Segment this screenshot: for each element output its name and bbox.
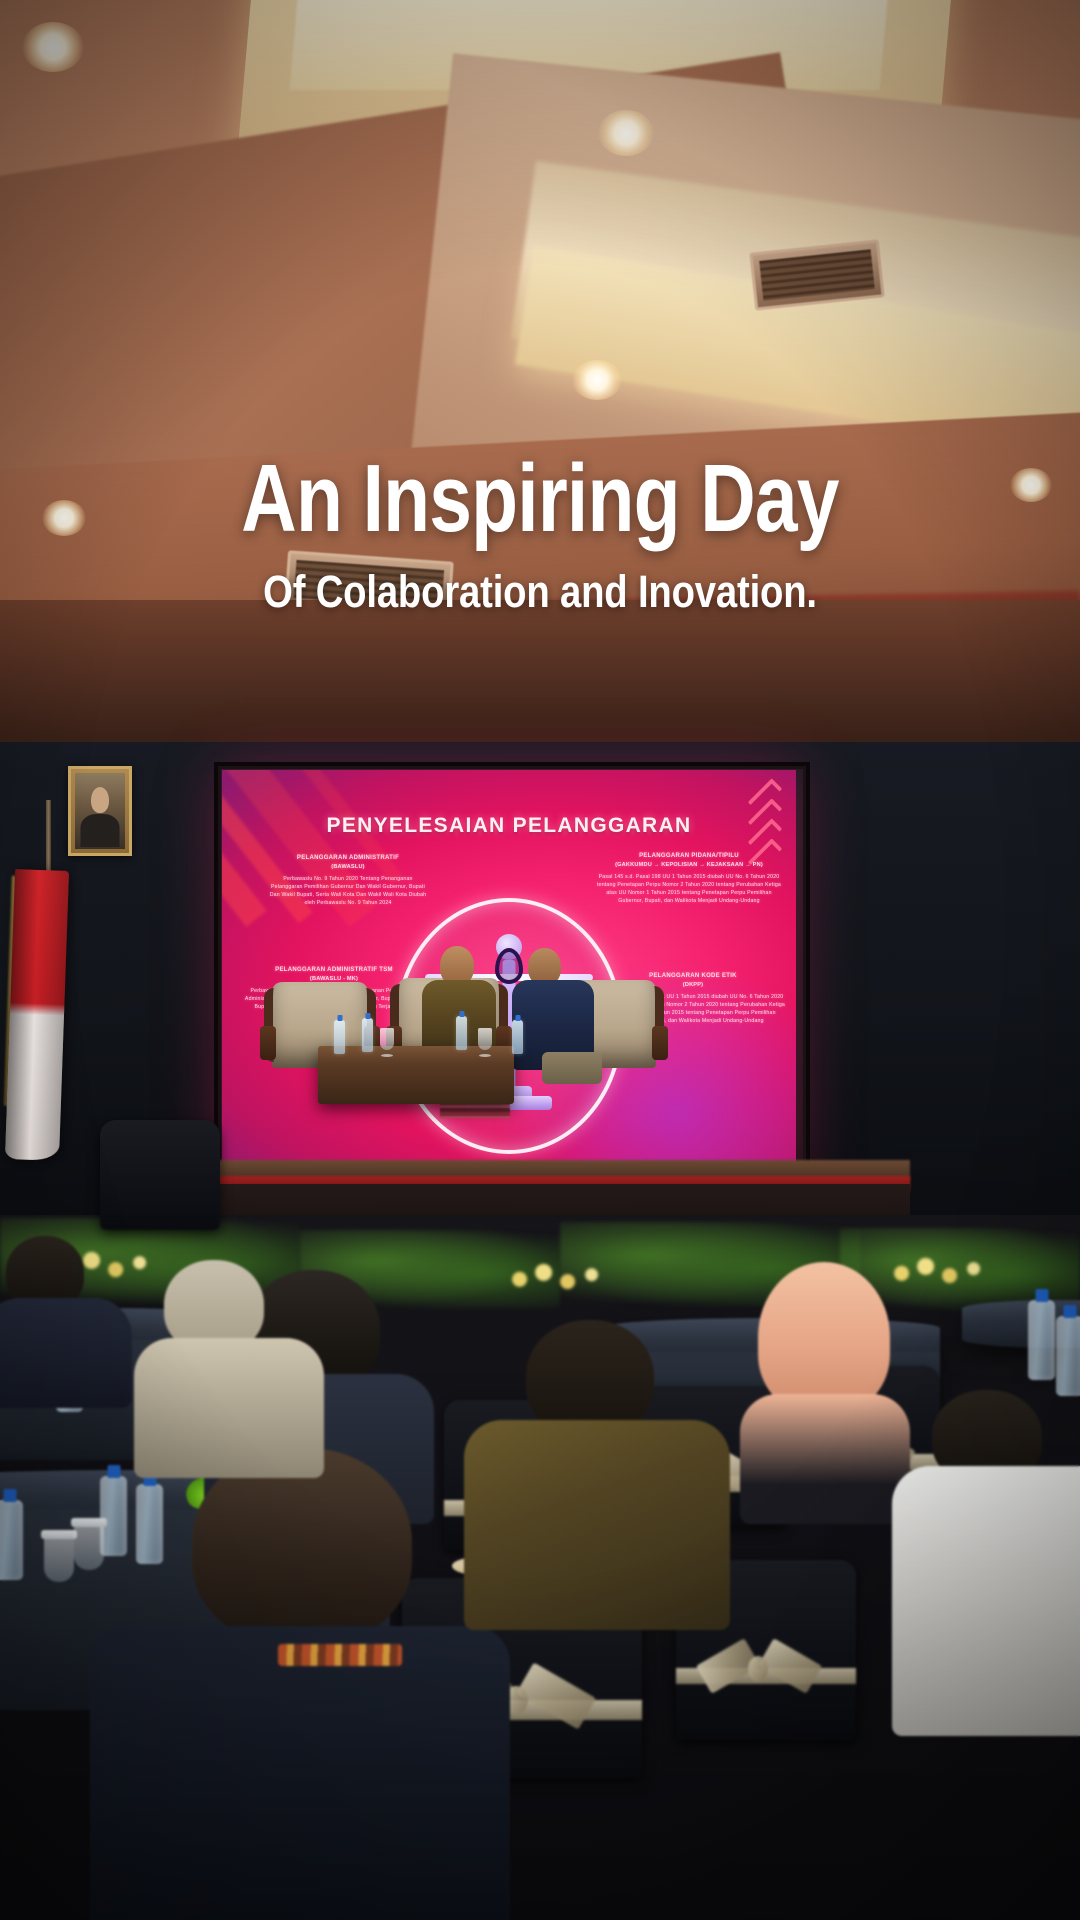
drinking-glass bbox=[44, 1536, 74, 1582]
water-bottle bbox=[100, 1476, 127, 1556]
drinking-glass bbox=[478, 1028, 492, 1050]
audience-member bbox=[136, 1448, 466, 1918]
audience-member bbox=[740, 1262, 900, 1482]
water-bottle bbox=[0, 1500, 23, 1580]
hijab bbox=[758, 1262, 890, 1412]
ceiling-downlight-icon bbox=[1010, 468, 1052, 502]
stage-speaker bbox=[516, 948, 592, 1070]
audience-member bbox=[902, 1390, 1080, 1720]
chair-bow-knot bbox=[748, 1656, 768, 1682]
audience-member bbox=[140, 1260, 310, 1450]
ceiling bbox=[0, 0, 1080, 640]
ceiling-downlight-icon bbox=[598, 110, 654, 156]
audience-member bbox=[0, 1236, 120, 1386]
drinking-glass bbox=[74, 1524, 104, 1570]
audience-member bbox=[480, 1320, 710, 1600]
screen-frame bbox=[218, 766, 806, 1194]
ceiling-downlight-icon bbox=[572, 360, 622, 400]
banquet-chair bbox=[100, 1120, 220, 1230]
flower-arrangement bbox=[498, 1254, 618, 1300]
water-bottle bbox=[456, 1016, 467, 1050]
framed-portrait bbox=[68, 766, 132, 856]
drinking-glass bbox=[380, 1028, 394, 1050]
water-bottle bbox=[1028, 1300, 1055, 1380]
ceiling-downlight-icon bbox=[22, 22, 84, 72]
water-bottle bbox=[512, 1020, 523, 1054]
water-bottle bbox=[1056, 1316, 1080, 1396]
flag-shading bbox=[5, 869, 69, 1161]
screenshot-canvas: PENYELESAIAN PELANGGARAN PELANGGARAN ADM… bbox=[0, 0, 1080, 1920]
water-bottle bbox=[334, 1020, 345, 1054]
lanyard bbox=[278, 1644, 402, 1666]
water-bottle bbox=[362, 1018, 373, 1052]
ceiling-downlight-icon bbox=[42, 500, 86, 536]
